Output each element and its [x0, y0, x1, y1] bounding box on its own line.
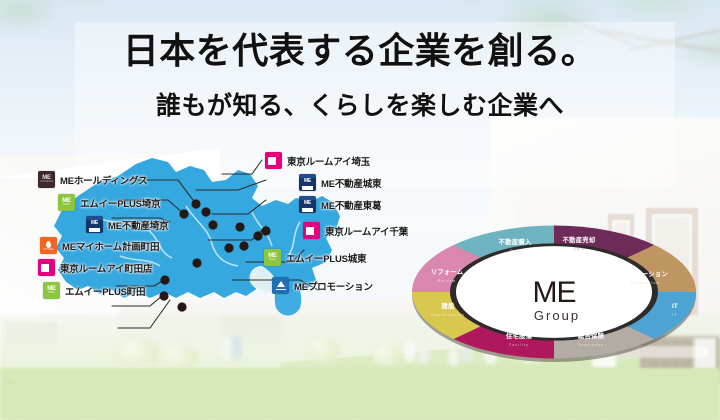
- label-me-fudosan-joto[interactable]: ME ME不動産城東: [299, 174, 381, 191]
- label-tokyo-roomi-chiba[interactable]: 東京ルームアイ千葉: [303, 222, 408, 239]
- label-tokyo-roomi-saitama[interactable]: 東京ルームアイ埼玉: [265, 152, 370, 169]
- label-me-plus-joto[interactable]: MEPLUS エムイーPLUS城東: [264, 249, 366, 266]
- segment-label-buy-ja: 不動産購入: [499, 237, 532, 246]
- tokyo-roomi-machida-logo-icon: [38, 259, 55, 276]
- label-text: ME不動産城東: [321, 176, 381, 190]
- map-marker[interactable]: [261, 226, 270, 235]
- map-marker[interactable]: [159, 291, 168, 300]
- segment-label-it-ja: IT: [672, 303, 678, 310]
- label-text: 東京ルームアイ埼玉: [287, 154, 370, 168]
- label-text: 東京ルームアイ千葉: [325, 224, 408, 238]
- me-group-subtitle: Group: [534, 308, 580, 323]
- map-marker[interactable]: [192, 258, 201, 267]
- label-me-holdings[interactable]: MEHOLDINGS MEホールディングス: [38, 171, 148, 188]
- label-text: MEマイホーム計画町田: [62, 239, 159, 253]
- label-text: エムイーPLUS埼京: [80, 196, 160, 210]
- me-myhome-machida-logo-icon: MYHOME: [40, 237, 57, 254]
- label-text: MEホールディングス: [60, 173, 148, 187]
- label-me-plus-machida[interactable]: MEPLUS エムイーPLUS町田: [43, 282, 145, 299]
- me-group-title: ME: [533, 276, 576, 309]
- label-me-promotion[interactable]: MEプロモーション: [272, 277, 373, 294]
- label-text: ME不動産東葛: [321, 198, 381, 212]
- tokyo-roomi-chiba-logo-icon: [303, 222, 320, 239]
- segment-label-sale-ja: 不動産売却: [563, 235, 596, 244]
- me-promotion-logo-icon: [272, 277, 289, 294]
- segment-label-renovation-en: Renovation: [630, 281, 659, 285]
- label-text: 東京ルームアイ町田店: [60, 261, 152, 275]
- segment-label-sale-en: Sale: [573, 247, 585, 251]
- segment-label-renovation-ja: リノベーション: [622, 270, 668, 278]
- map-marker[interactable]: [239, 241, 248, 250]
- map-marker[interactable]: [224, 243, 233, 252]
- segment-label-construction-en: Construction: [431, 313, 464, 317]
- tokyo-roomi-saitama-logo-icon: [265, 152, 282, 169]
- label-text: ME不動産埼京: [108, 218, 168, 232]
- me-fudosan-saikyo-logo-icon: ME: [86, 216, 103, 233]
- segment-label-construction-ja: 建設: [440, 301, 455, 310]
- segment-label-insurance-ja: 総合保険: [578, 331, 605, 340]
- segment-label-buy-en: Buy: [510, 249, 520, 253]
- map-marker[interactable]: [208, 220, 217, 229]
- me-fudosan-joto-logo-icon: ME: [299, 174, 316, 191]
- me-holdings-logo-icon: MEHOLDINGS: [38, 171, 55, 188]
- label-me-fudosan-tokatsu[interactable]: ME ME不動産東葛: [299, 196, 381, 213]
- map-marker[interactable]: [253, 231, 262, 240]
- label-text: MEプロモーション: [294, 279, 373, 293]
- me-plus-machida-logo-icon: MEPLUS: [43, 282, 60, 299]
- me-plus-saikyo-logo-icon: MEPLUS: [58, 194, 75, 211]
- segment-label-facility-ja: 住宅設備: [506, 331, 533, 340]
- segment-label-facility-en: Facility: [509, 343, 529, 347]
- map-marker[interactable]: [235, 222, 244, 231]
- map-marker[interactable]: [179, 209, 188, 218]
- segment-label-reform-en: Reform: [438, 279, 456, 283]
- map-marker[interactable]: [201, 207, 210, 216]
- segment-label-insurance-en: Insurance: [578, 343, 604, 347]
- map-marker[interactable]: [160, 275, 169, 284]
- segment-label-it-en: IT: [672, 313, 677, 317]
- label-me-fudosan-saikyo[interactable]: ME ME不動産埼京: [86, 216, 168, 233]
- label-me-plus-saikyo[interactable]: MEPLUS エムイーPLUS埼京: [58, 194, 160, 211]
- label-text: エムイーPLUS城東: [286, 251, 366, 265]
- me-plus-joto-logo-icon: MEPLUS: [264, 249, 281, 266]
- map-marker[interactable]: [191, 199, 200, 208]
- label-tokyo-roomi-machida[interactable]: 東京ルームアイ町田店: [38, 259, 152, 276]
- me-group-svg: ME Group 不動産購入 Buy 不動産売却 Sale リノベーション Re…: [405, 216, 703, 368]
- map-marker[interactable]: [177, 302, 186, 311]
- segment-label-reform-ja: リフォーム: [431, 268, 464, 276]
- label-text: エムイーPLUS町田: [65, 284, 145, 298]
- label-me-myhome-machida[interactable]: MYHOME MEマイホーム計画町田: [40, 237, 159, 254]
- me-fudosan-tokatsu-logo-icon: ME: [299, 196, 316, 213]
- me-group-diagram: ME Group 不動産購入 Buy 不動産売却 Sale リノベーション Re…: [405, 216, 703, 368]
